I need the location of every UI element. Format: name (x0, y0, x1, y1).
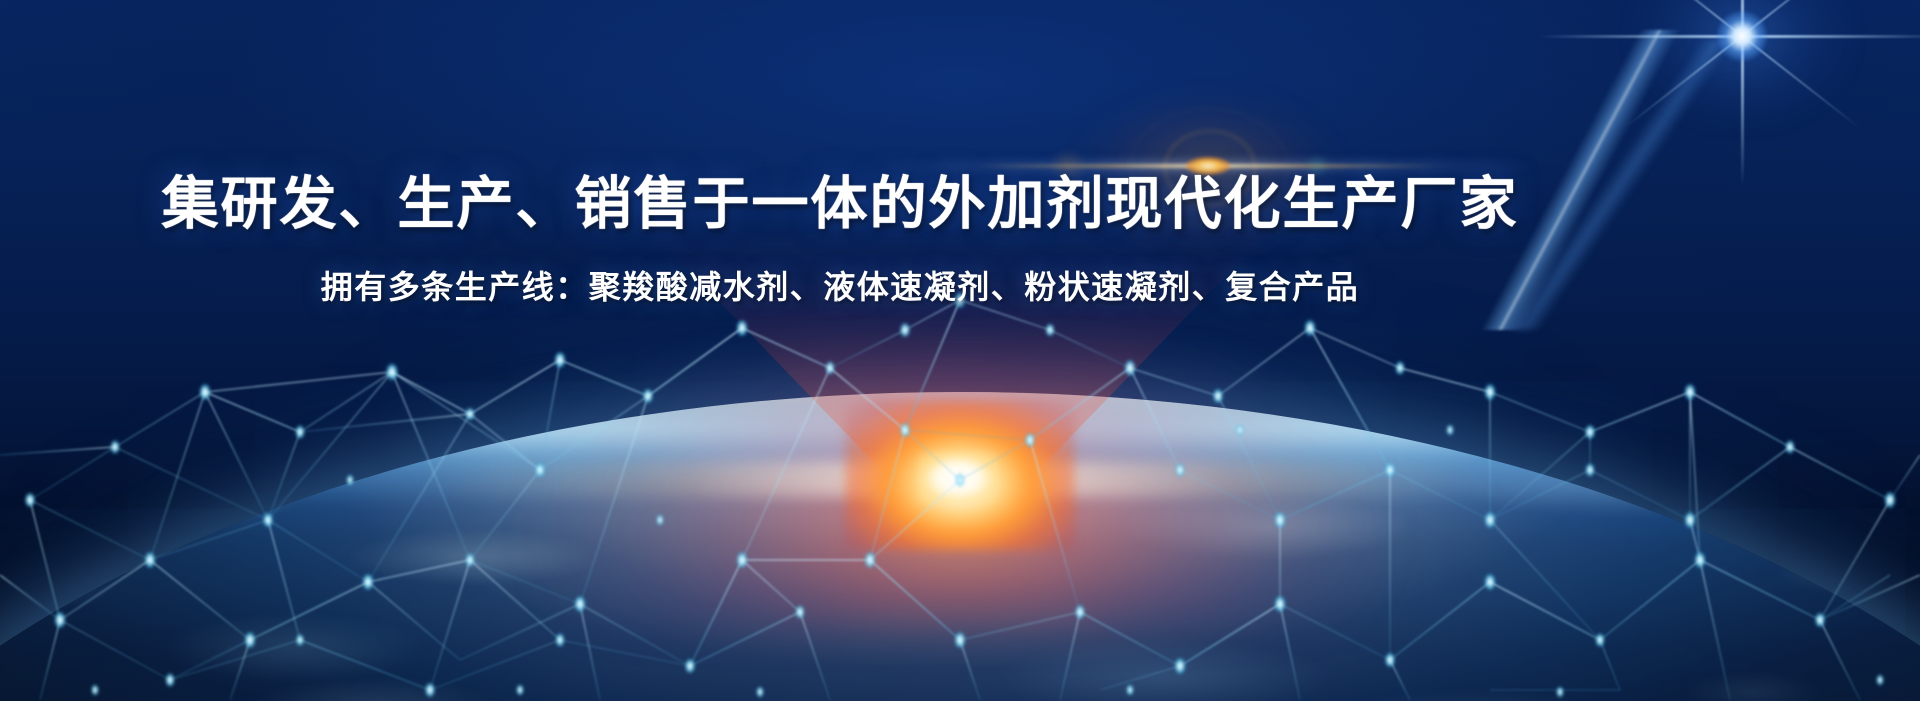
banner-subheadline: 拥有多条生产线：聚羧酸减水剂、液体速凝剂、粉状速凝剂、复合产品 (0, 262, 1680, 308)
sun-hotspot (918, 452, 998, 504)
hero-banner: 集研发、生产、销售于一体的外加剂现代化生产厂家 拥有多条生产线：聚羧酸减水剂、液… (0, 0, 1920, 701)
star-core (1716, 10, 1768, 62)
banner-headline: 集研发、生产、销售于一体的外加剂现代化生产厂家 (0, 174, 1680, 236)
